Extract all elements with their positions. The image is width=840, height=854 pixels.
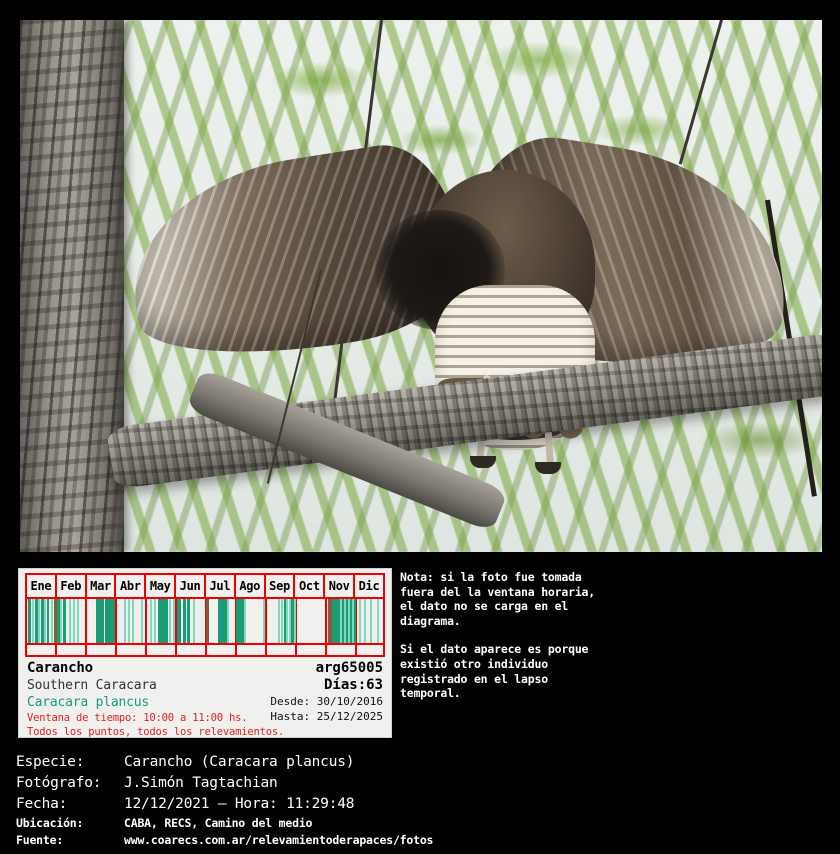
note-paragraph-2: Si el dato aparece es porque existió otr… [400,642,600,700]
record-mark [173,599,175,643]
month-header-row: EneFebMarAbrMayJunJulAgoSepOctNovDic [25,573,385,599]
species-photo [20,20,822,552]
photographer-label: Fotógrafo: [16,773,124,794]
record-mark [128,599,130,643]
note-gap [400,628,600,642]
days-count: Días:63 [270,677,383,694]
month-cell-dic[interactable]: Dic [353,575,385,597]
month-divider [235,645,237,655]
record-mark [177,599,181,643]
record-mark [28,599,31,643]
record-mark [187,599,190,643]
species-label: Especie: [16,752,124,773]
month-cell-ago[interactable]: Ago [234,575,264,597]
month-cell-may[interactable]: May [144,575,174,597]
month-divider [175,645,177,655]
record-mark [51,599,53,643]
month-divider [25,645,27,655]
record-mark [166,599,168,643]
bird-foot [470,456,496,468]
card-text-block: Carancho Southern Caracara Caracara plan… [27,660,383,734]
photo-metadata: Especie: Carancho (Caracara plancus) Fot… [16,752,816,849]
month-cell-sep[interactable]: Sep [264,575,294,597]
meta-row-location: Ubicación: CABA, RECS, Camino del medio [16,815,816,832]
record-mark [169,599,171,643]
month-divider [265,645,267,655]
scientific-name: Caracara plancus [27,694,284,711]
month-cell-mar[interactable]: Mar [85,575,115,597]
diagram-note: Nota: si la foto fue tomada fuera del la… [400,570,600,701]
record-mark [47,599,49,643]
common-name: Carancho [27,660,284,677]
date-value: 12/12/2021 — Hora: 11:29:48 [124,794,354,815]
month-divider [325,645,327,655]
record-mark [278,599,280,643]
record-mark [354,599,356,643]
meta-row-source: Fuente: www.coarecs.com.ar/relevamientod… [16,832,816,849]
record-mark [77,599,79,643]
record-mark [113,599,115,643]
meta-row-photographer: Fotógrafo: J.Simón Tagtachian [16,773,816,794]
record-mark [183,599,186,643]
record-mark [132,599,134,643]
bird-foot [535,462,561,474]
species-record-card: EneFebMarAbrMayJunJulAgoSepOctNovDic Car… [18,568,392,738]
location-label: Ubicación: [16,815,124,832]
record-code: arg65005 [270,660,383,677]
month-divider [145,599,147,643]
record-mark [227,599,229,643]
meta-row-date: Fecha: 12/12/2021 — Hora: 11:29:48 [16,794,816,815]
month-divider [25,599,27,643]
chart-tick-row [25,643,385,657]
month-divider [205,645,207,655]
card-right-stats: arg65005 Días:63 Desde: 30/10/2016 Hasta… [270,660,383,724]
month-cell-oct[interactable]: Oct [293,575,323,597]
date-from: Desde: 30/10/2016 [270,694,383,709]
card-left-names: Carancho Southern Caracara Caracara plan… [27,660,284,739]
month-divider [145,645,147,655]
record-mark [73,599,75,643]
record-mark [377,599,379,643]
month-cell-nov[interactable]: Nov [323,575,353,597]
record-mark [244,599,246,643]
record-mark [63,599,66,643]
month-divider [295,645,297,655]
record-mark [44,599,46,643]
photographer-value: J.Simón Tagtachian [124,773,278,794]
month-divider [85,599,87,643]
month-cell-jul[interactable]: Jul [204,575,234,597]
month-divider [115,645,117,655]
record-mark [69,599,71,643]
record-mark [141,599,143,643]
record-mark [124,599,126,643]
source-value[interactable]: www.coarecs.com.ar/relevamientoderapaces… [124,832,433,849]
record-mark [263,599,265,643]
records-bar-chart[interactable] [25,599,385,643]
all-points-note: Todos los puntos, todos los relevamiento… [27,725,284,739]
month-cell-ene[interactable]: Ene [25,575,55,597]
record-mark [206,599,209,643]
month-divider [115,599,117,643]
month-cell-feb[interactable]: Feb [55,575,85,597]
species-value: Carancho (Caracara plancus) [124,752,354,773]
location-value: CABA, RECS, Camino del medio [124,815,312,832]
english-name: Southern Caracara [27,677,284,694]
date-to: Hasta: 25/12/2025 [270,709,383,724]
time-window: Ventana de tiempo: 10:00 a 11:00 hs. [27,711,284,725]
record-mark [150,599,152,643]
record-mark [294,599,296,643]
month-cell-jun[interactable]: Jun [174,575,204,597]
record-mark [364,599,366,643]
month-divider [383,645,385,655]
note-paragraph-1: Nota: si la foto fue tomada fuera del la… [400,570,600,628]
record-mark [281,599,283,643]
record-mark [32,599,34,643]
record-mark [60,599,62,643]
record-mark [359,599,361,643]
month-divider [55,645,57,655]
date-label: Fecha: [16,794,124,815]
source-label: Fuente: [16,832,124,849]
record-mark [370,599,372,643]
month-divider [265,599,267,643]
meta-row-species: Especie: Carancho (Caracara plancus) [16,752,816,773]
record-mark [193,599,195,643]
month-divider [85,645,87,655]
record-mark [38,599,40,643]
month-cell-abr[interactable]: Abr [114,575,144,597]
month-divider [355,645,357,655]
month-divider [383,599,385,643]
month-divider [325,599,327,643]
record-mark [154,599,156,643]
